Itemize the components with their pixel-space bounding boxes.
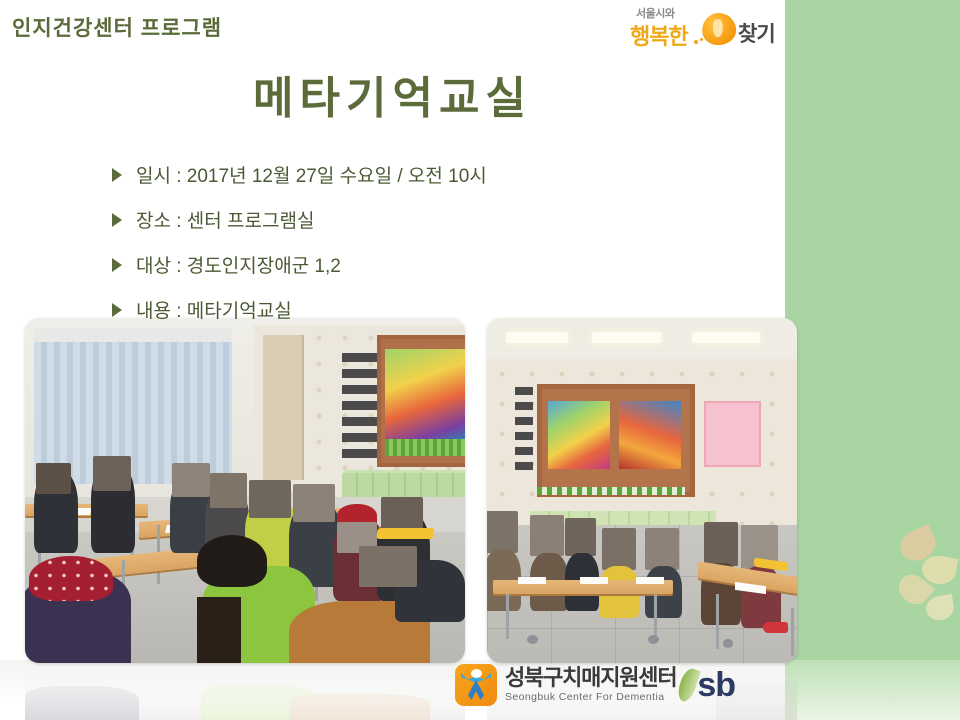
detail-list: 일시 : 2017년 12월 27일 수요일 / 오전 10시 장소 : 센터 …: [112, 152, 487, 332]
right-green-panel-footer: [785, 660, 960, 720]
photo-reflection-left: [25, 664, 465, 720]
list-item: 대상 : 경도인지장애군 1,2: [112, 242, 487, 287]
footer-logo-text: 성북구치매지원센터 Seongbuk Center For Dementia: [505, 667, 676, 703]
sb-mark: sb: [697, 666, 735, 705]
presentation-slide: 인지건강센터 프로그램 서울시와 행복한 찾기 메타기억교실 일시 : 2017…: [0, 0, 960, 720]
photo-content: [25, 318, 465, 663]
page-title: 메타기억교실: [0, 62, 785, 126]
triangle-bullet-icon: [112, 213, 122, 227]
list-item-label: 대상 : 경도인지장애군 1,2: [136, 251, 341, 278]
brand-dots-icon: [694, 38, 708, 46]
list-item: 일시 : 2017년 12월 27일 수요일 / 오전 10시: [112, 152, 487, 197]
classroom-photo-right: [487, 318, 797, 663]
person-figure-icon: [455, 664, 497, 706]
triangle-bullet-icon: [112, 303, 122, 317]
program-label: 인지건강센터 프로그램: [12, 12, 222, 42]
classroom-photo-left: [25, 318, 465, 663]
list-item: 장소 : 센터 프로그램실: [112, 197, 487, 242]
triangle-bullet-icon: [112, 258, 122, 272]
list-item-label: 일시 : 2017년 12월 27일 수요일 / 오전 10시: [136, 161, 487, 188]
footer-logo: 성북구치매지원센터 Seongbuk Center For Dementia s…: [455, 658, 775, 712]
brand-big-text: 행복한: [630, 19, 688, 51]
seoul-happy-brand-logo: 서울시와 행복한 찾기: [628, 4, 780, 54]
triangle-bullet-icon: [112, 168, 122, 182]
list-item-label: 장소 : 센터 프로그램실: [136, 206, 314, 233]
center-name-ko: 성북구치매지원센터: [505, 667, 676, 689]
center-name-en: Seongbuk Center For Dementia: [505, 692, 676, 703]
brand-tail-text: 찾기: [738, 18, 775, 48]
list-item-label: 내용 : 메타기억교실: [136, 296, 292, 323]
list-item: 내용 : 메타기억교실: [112, 287, 487, 332]
photo-content: [487, 318, 797, 663]
